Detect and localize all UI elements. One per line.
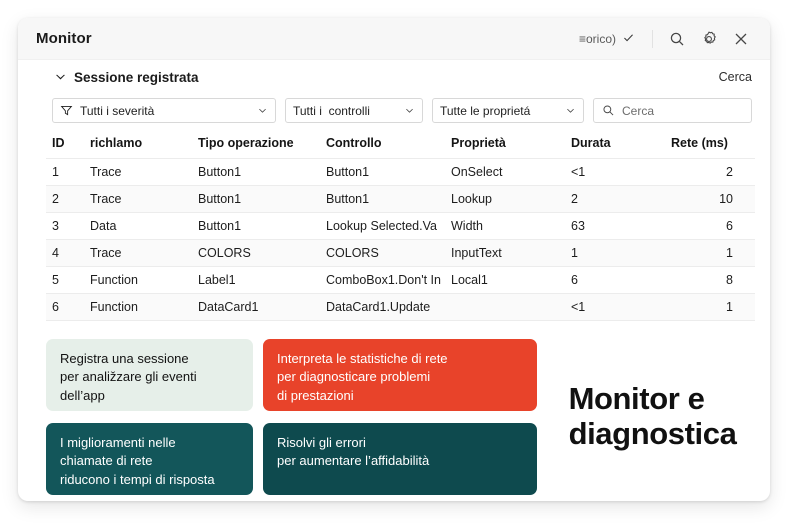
table-row[interactable]: 4 Trace COLORS COLORS InputText 1 1 — [46, 240, 755, 267]
titlebar-actions: ≡orico) — [575, 24, 756, 54]
search-icon — [602, 104, 615, 117]
gear-icon[interactable] — [694, 24, 724, 54]
card-line: di prestazioni — [277, 387, 523, 405]
cell-tipo: Label1 — [192, 267, 320, 294]
page-title: Monitor — [36, 30, 92, 47]
cell-durata: 63 — [565, 213, 665, 240]
cell-durata: 2 — [565, 186, 665, 213]
cell-proprieta: Lookup — [445, 186, 565, 213]
controls-filter-label: Tutti i controlli — [293, 104, 397, 118]
highlights-section: Registra una sessione per analižzare gli… — [18, 321, 770, 495]
cell-rete: 1 — [665, 294, 755, 321]
card-miglioramenti-rete[interactable]: I miglioramenti nelle chiamate di rete r… — [46, 423, 253, 495]
cell-proprieta: OnSelect — [445, 159, 565, 186]
table-row[interactable]: 1 Trace Button1 Button1 OnSelect <1 2 — [46, 159, 755, 186]
properties-filter-dropdown[interactable]: Tutte le proprietá — [432, 98, 584, 123]
chevron-down-icon — [257, 105, 268, 116]
card-line: Risolvi gli errori — [277, 434, 523, 452]
severity-filter-dropdown[interactable]: Tutti i severità — [52, 98, 276, 123]
highlight-cards: Registra una sessione per analižzare gli… — [46, 339, 537, 495]
cell-rete: 6 — [665, 213, 755, 240]
column-header-tipo[interactable]: Tipo operazione — [192, 133, 320, 159]
cell-durata: 6 — [565, 267, 665, 294]
cell-rete: 2 — [665, 159, 755, 186]
monitor-log-table: ID richlamo Tipo operazione Controllo Pr… — [18, 133, 770, 321]
cell-richlamo: Function — [84, 267, 192, 294]
cell-id: 1 — [46, 159, 84, 186]
cell-durata: <1 — [565, 294, 665, 321]
table-body: 1 Trace Button1 Button1 OnSelect <1 2 2 … — [46, 159, 755, 321]
card-registra-sessione[interactable]: Registra una sessione per analižzare gli… — [46, 339, 253, 411]
cell-proprieta: InputText — [445, 240, 565, 267]
card-line: Interpreta le statistiche di rete — [277, 350, 523, 368]
column-header-richlamo[interactable]: richlamo — [84, 133, 192, 159]
cell-controllo: ComboBox1.Don't In — [320, 267, 445, 294]
column-header-proprieta[interactable]: Proprietà — [445, 133, 565, 159]
filter-toolbar: Tutti i severità Tutti i controlli Tutte… — [18, 94, 770, 133]
cell-proprieta: Local1 — [445, 267, 565, 294]
cell-richlamo: Function — [84, 294, 192, 321]
history-chip[interactable]: ≡orico) — [575, 28, 643, 50]
cell-id: 4 — [46, 240, 84, 267]
cell-controllo: Lookup Selected.Va — [320, 213, 445, 240]
card-line: Registra una sessione — [60, 350, 239, 368]
cell-durata: 1 — [565, 240, 665, 267]
card-line: chiamate di rete — [60, 452, 239, 470]
cell-rete: 1 — [665, 240, 755, 267]
cell-tipo: Button1 — [192, 159, 320, 186]
card-risolvi-errori[interactable]: Risolvi gli errori per aumentare l’affid… — [263, 423, 537, 495]
window-titlebar: Monitor ≡orico) — [18, 18, 770, 60]
cell-richlamo: Trace — [84, 159, 192, 186]
column-header-id[interactable]: ID — [46, 133, 84, 159]
cell-tipo: Button1 — [192, 186, 320, 213]
cell-tipo: DataCard1 — [192, 294, 320, 321]
cell-rete: 8 — [665, 267, 755, 294]
cell-richlamo: Trace — [84, 186, 192, 213]
monitor-window: Monitor ≡orico) — [18, 18, 770, 501]
card-line: dell’app — [60, 387, 239, 405]
cell-id: 6 — [46, 294, 84, 321]
session-bar: Sessione registrata Cerca — [18, 60, 770, 94]
column-header-rete[interactable]: Rete (ms) — [665, 133, 755, 159]
table-row[interactable]: 6 Function DataCard1 DataCard1.Update <1… — [46, 294, 755, 321]
session-search-link[interactable]: Cerca — [719, 70, 752, 84]
cell-richlamo: Data — [84, 213, 192, 240]
chevron-down-icon[interactable] — [54, 71, 67, 84]
controls-filter-dropdown[interactable]: Tutti i controlli — [285, 98, 423, 123]
cell-tipo: COLORS — [192, 240, 320, 267]
cell-rete: 10 — [665, 186, 755, 213]
table-row[interactable]: 5 Function Label1 ComboBox1.Don't In Loc… — [46, 267, 755, 294]
search-input[interactable]: Cerca — [593, 98, 752, 123]
cell-richlamo: Trace — [84, 240, 192, 267]
titlebar-divider — [652, 30, 653, 48]
chevron-down-icon — [404, 105, 415, 116]
cell-controllo: COLORS — [320, 240, 445, 267]
cell-controllo: Button1 — [320, 159, 445, 186]
table-header-row: ID richlamo Tipo operazione Controllo Pr… — [46, 133, 755, 159]
column-header-durata[interactable]: Durata — [565, 133, 665, 159]
cell-id: 5 — [46, 267, 84, 294]
check-icon — [622, 31, 635, 47]
card-interpreta-statistiche[interactable]: Interpreta le statistiche di rete per di… — [263, 339, 537, 411]
card-line: per aumentare l’affidabilità — [277, 452, 523, 470]
session-title: Sessione registrata — [74, 70, 199, 85]
hero-line-2: diagnostica — [569, 417, 737, 452]
cell-proprieta — [445, 294, 565, 321]
app-frame: Monitor ≡orico) — [0, 0, 789, 526]
cell-tipo: Button1 — [192, 213, 320, 240]
card-line: per analižzare gli eventi — [60, 368, 239, 386]
close-icon[interactable] — [726, 24, 756, 54]
search-icon[interactable] — [662, 24, 692, 54]
card-line: per diagnosticare problemi — [277, 368, 523, 386]
cell-proprieta: Width — [445, 213, 565, 240]
history-chip-label: ≡orico) — [579, 32, 616, 46]
cell-controllo: Button1 — [320, 186, 445, 213]
cell-id: 2 — [46, 186, 84, 213]
chevron-down-icon — [565, 105, 576, 116]
hero-heading: Monitor e diagnostica — [547, 339, 752, 495]
cell-id: 3 — [46, 213, 84, 240]
properties-filter-label: Tutte le proprietá — [440, 104, 558, 118]
card-line: riducono i tempi di risposta — [60, 471, 239, 489]
column-header-controllo[interactable]: Controllo — [320, 133, 445, 159]
cell-controllo: DataCard1.Update — [320, 294, 445, 321]
search-input-placeholder: Cerca — [622, 104, 654, 118]
hero-line-1: Monitor e — [569, 382, 737, 417]
cell-durata: <1 — [565, 159, 665, 186]
severity-filter-label: Tutti i severità — [80, 104, 250, 118]
filter-funnel-icon — [60, 104, 73, 117]
table-row[interactable]: 2 Trace Button1 Button1 Lookup 2 10 — [46, 186, 755, 213]
card-line: I miglioramenti nelle — [60, 434, 239, 452]
table-row[interactable]: 3 Data Button1 Lookup Selected.Va Width … — [46, 213, 755, 240]
